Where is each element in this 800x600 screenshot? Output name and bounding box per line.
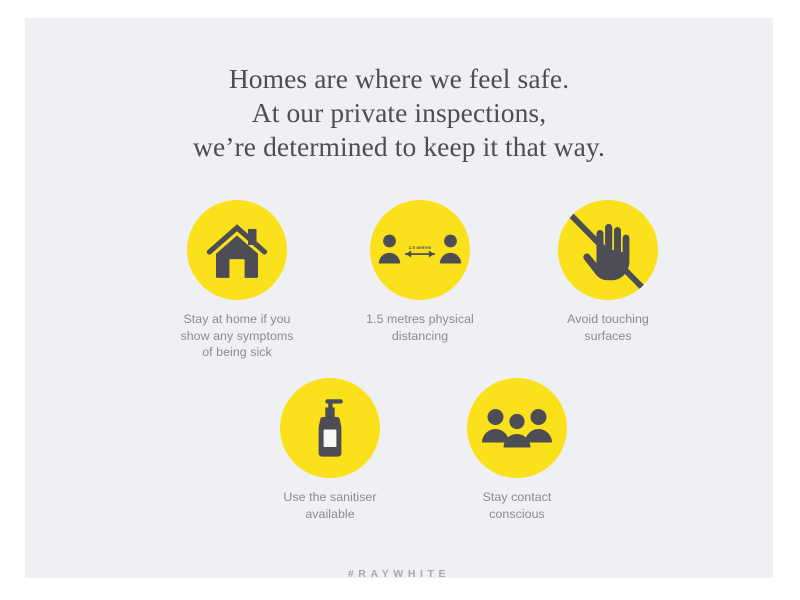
social-distancing-icon: 1.5 metres <box>378 230 462 270</box>
poster-card: Homes are where we feel safe. At our pri… <box>25 18 773 578</box>
caption-line-2: available <box>235 506 425 523</box>
house-icon <box>206 221 268 279</box>
caption-line-1: Use the sanitiser <box>235 489 425 506</box>
caption-line-1: Avoid touching <box>513 311 703 328</box>
no-touching-hand-icon <box>558 200 658 300</box>
sanitiser-bottle-icon-badge <box>280 378 380 478</box>
bottle-label <box>324 430 337 448</box>
page-title: Homes are where we feel safe. At our pri… <box>25 62 773 164</box>
headline-line-2: At our private inspections, <box>25 96 773 130</box>
caption-line-3: of being sick <box>142 344 332 361</box>
caption-line-1: Stay contact <box>422 489 612 506</box>
safety-item-contact-conscious: Stay contact conscious <box>422 378 612 522</box>
safety-item-caption: Use the sanitiser available <box>235 489 425 522</box>
distance-label: 1.5 metres <box>409 245 432 250</box>
caption-line-2: show any symptoms <box>142 328 332 345</box>
caption-line-2: conscious <box>422 506 612 523</box>
safety-item-caption: 1.5 metres physical distancing <box>325 311 515 344</box>
safety-item-caption: Avoid touching surfaces <box>513 311 703 344</box>
safety-item-distancing: 1.5 metres 1.5 metres physical distancin… <box>325 200 515 344</box>
group-of-people-icon <box>482 404 552 452</box>
no-touching-hand-icon-badge <box>558 200 658 300</box>
safety-item-caption: Stay contact conscious <box>422 489 612 522</box>
headline-line-3: we’re determined to keep it that way. <box>25 130 773 164</box>
brand-hashtag: #RAYWHITE <box>25 568 773 578</box>
safety-item-avoid-touching: Avoid touching surfaces <box>513 200 703 344</box>
safety-item-stay-home: Stay at home if you show any symptoms of… <box>142 200 332 361</box>
caption-line-1: Stay at home if you <box>142 311 332 328</box>
safety-item-sanitiser: Use the sanitiser available <box>235 378 425 522</box>
group-of-people-icon-badge <box>467 378 567 478</box>
social-distancing-icon-badge: 1.5 metres <box>370 200 470 300</box>
headline-line-1: Homes are where we feel safe. <box>25 62 773 96</box>
caption-line-2: surfaces <box>513 328 703 345</box>
caption-line-2: distancing <box>325 328 515 345</box>
caption-line-1: 1.5 metres physical <box>325 311 515 328</box>
sanitiser-bottle-icon <box>307 397 353 459</box>
house-icon-badge <box>187 200 287 300</box>
safety-item-caption: Stay at home if you show any symptoms of… <box>142 311 332 361</box>
